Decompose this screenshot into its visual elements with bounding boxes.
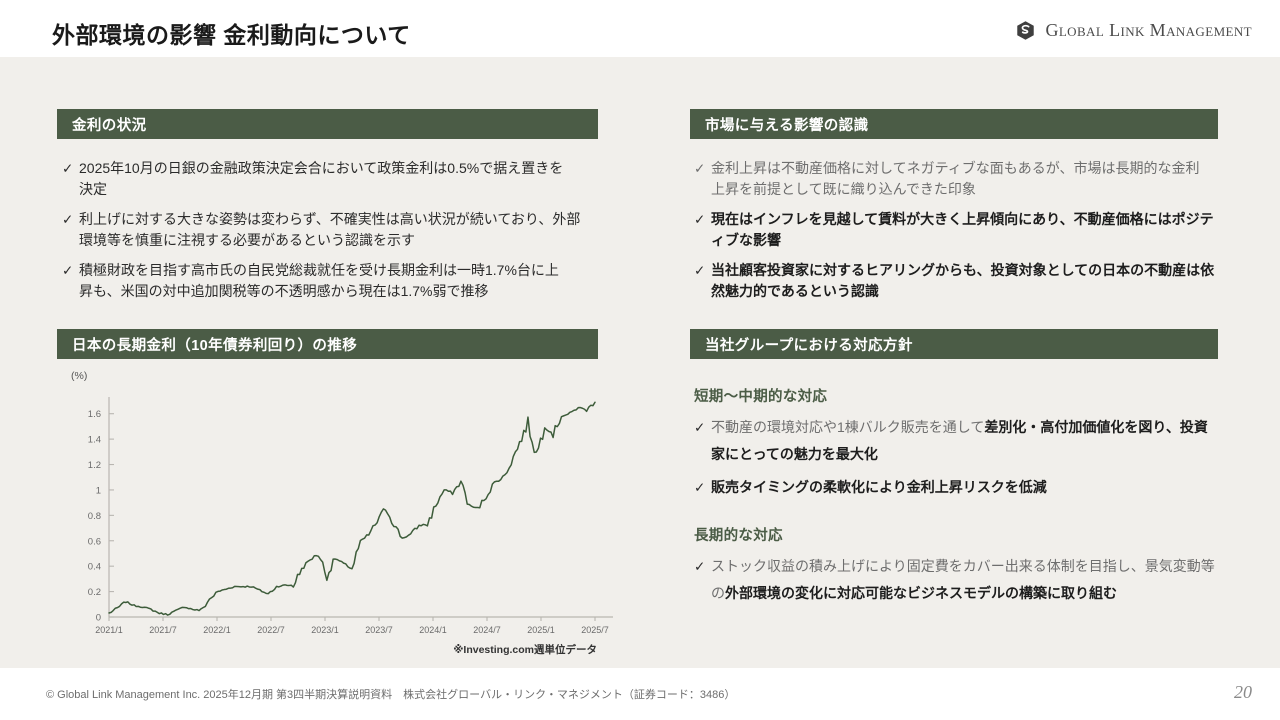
svg-text:2021/1: 2021/1 [95,625,123,635]
svg-text:1: 1 [96,485,101,496]
list-item-text-emphasis: 販売タイミングの柔軟化により金利上昇リスクを低減 [711,479,1047,495]
svg-text:0: 0 [96,613,101,624]
footer-copyright: © Global Link Management Inc. 2025年12月期 … [46,686,735,702]
section-bar-chart: 日本の長期金利（10年債券利回り）の推移 [57,329,598,359]
check-icon: ✓ [694,260,711,302]
list-item-text-emphasis: 外部環境の変化に対応可能なビジネスモデルの構築に取り組む [725,585,1117,601]
group-policy-short-mid: 短期〜中期的な対応 ✓ 不動産の環境対応や1棟バルク販売を通して差別化・高付加価… [694,385,1222,507]
svg-text:2024/1: 2024/1 [419,625,447,635]
slide-header: 外部環境の影響 金利動向について Global Link Management [0,0,1280,57]
svg-text:2024/7: 2024/7 [473,625,501,635]
list-item-text: 当社顧客投資家に対するヒアリングからも、投資対象としての日本の不動産は依然魅力的… [711,260,1224,302]
svg-text:0.6: 0.6 [88,536,101,547]
section-bar-group-policy-label: 当社グループにおける対応方針 [690,334,913,355]
list-item-text: 現在はインフレを見越して賃料が大きく上昇傾向にあり、不動産価格にはポジティブな影… [711,209,1224,251]
subhead-short-mid: 短期〜中期的な対応 [694,385,1222,406]
rates-status-bullets: ✓ 2025年10月の日銀の金融政策決定会合において政策金利は0.5%で据え置き… [62,158,607,311]
list-item-text: 2025年10月の日銀の金融政策決定会合において政策金利は0.5%で据え置きを決… [79,158,577,200]
check-icon: ✓ [694,414,711,468]
long-term-bullets: ✓ ストック収益の積み上げにより固定費をカバー出来る体制を目指し、景気変動等の外… [694,553,1222,607]
svg-text:1.4: 1.4 [88,435,101,446]
svg-text:1.2: 1.2 [88,460,101,471]
check-icon: ✓ [694,158,711,200]
check-icon: ✓ [694,474,711,501]
section-bar-market-impact-label: 市場に与える影響の認識 [690,114,868,135]
svg-text:2023/1: 2023/1 [311,625,339,635]
list-item: ✓ 積極財政を目指す高市氏の自民党総裁就任を受け長期金利は一時1.7%台に上昇も… [62,260,607,302]
list-item: ✓ 金利上昇は不動産価格に対してネガティブな面もあるが、市場は長期的な金利上昇を… [694,158,1224,200]
chart-source-note: ※Investing.com週単位データ [453,642,597,657]
list-item: ✓ ストック収益の積み上げにより固定費をカバー出来る体制を目指し、景気変動等の外… [694,553,1222,607]
svg-text:1.6: 1.6 [88,409,101,420]
market-impact-bullets: ✓ 金利上昇は不動産価格に対してネガティブな面もあるが、市場は長期的な金利上昇を… [694,158,1224,311]
section-bar-rates-status: 金利の状況 [57,109,598,139]
list-item: ✓ 当社顧客投資家に対するヒアリングからも、投資対象としての日本の不動産は依然魅… [694,260,1224,302]
svg-text:2023/7: 2023/7 [365,625,393,635]
list-item-text: 販売タイミングの柔軟化により金利上昇リスクを低減 [711,474,1221,501]
section-bar-market-impact: 市場に与える影響の認識 [690,109,1218,139]
slide-root: 外部環境の影響 金利動向について Global Link Management … [0,0,1280,720]
section-bar-chart-label: 日本の長期金利（10年債券利回り）の推移 [57,334,357,355]
svg-text:2025/7: 2025/7 [581,625,609,635]
group-policy-long-term: 長期的な対応 ✓ ストック収益の積み上げにより固定費をカバー出来る体制を目指し、… [694,524,1222,613]
list-item: ✓ 利上げに対する大きな姿勢は変わらず、不確実性は高い状況が続いており、外部環境… [62,209,607,251]
svg-text:2025/1: 2025/1 [527,625,555,635]
glm-hexagon-logo-icon [1015,20,1036,41]
list-item: ✓ 現在はインフレを見越して賃料が大きく上昇傾向にあり、不動産価格にはポジティブ… [694,209,1224,251]
list-item-text-plain: 不動産の環境対応や1棟バルク販売を通して [711,419,984,435]
rate-trend-chart: (%) 00.20.40.60.811.21.41.62021/12021/72… [57,365,617,660]
list-item-text: 金利上昇は不動産価格に対してネガティブな面もあるが、市場は長期的な金利上昇を前提… [711,158,1211,200]
section-bar-group-policy: 当社グループにおける対応方針 [690,329,1218,359]
section-bar-rates-status-label: 金利の状況 [57,114,147,135]
list-item: ✓ 不動産の環境対応や1棟バルク販売を通して差別化・高付加価値化を図り、投資家に… [694,414,1222,468]
svg-text:0.2: 0.2 [88,587,101,598]
check-icon: ✓ [62,158,79,200]
check-icon: ✓ [62,209,79,251]
svg-text:2022/1: 2022/1 [203,625,231,635]
check-icon: ✓ [694,553,711,607]
list-item-text: ストック収益の積み上げにより固定費をカバー出来る体制を目指し、景気変動等の外部環… [711,553,1222,607]
company-logo: Global Link Management [1015,20,1252,41]
check-icon: ✓ [62,260,79,302]
svg-text:0.8: 0.8 [88,511,101,522]
list-item-text: 利上げに対する大きな姿勢は変わらず、不確実性は高い状況が続いており、外部環境等を… [79,209,594,251]
chart-plot: 00.20.40.60.811.21.41.62021/12021/72022/… [57,389,617,644]
svg-text:0.4: 0.4 [88,562,101,573]
page-number: 20 [1234,682,1252,703]
check-icon: ✓ [694,209,711,251]
svg-text:2021/7: 2021/7 [149,625,177,635]
page-title: 外部環境の影響 金利動向について [52,16,411,50]
list-item: ✓ 販売タイミングの柔軟化により金利上昇リスクを低減 [694,474,1222,501]
logo-wordmark: Global Link Management [1045,20,1252,41]
short-mid-bullets: ✓ 不動産の環境対応や1棟バルク販売を通して差別化・高付加価値化を図り、投資家に… [694,414,1222,501]
list-item-text: 積極財政を目指す高市氏の自民党総裁就任を受け長期金利は一時1.7%台に上昇も、米… [79,260,559,302]
svg-text:2022/7: 2022/7 [257,625,285,635]
list-item: ✓ 2025年10月の日銀の金融政策決定会合において政策金利は0.5%で据え置き… [62,158,607,200]
chart-unit-label: (%) [71,370,87,382]
list-item-text: 不動産の環境対応や1棟バルク販売を通して差別化・高付加価値化を図り、投資家にとっ… [711,414,1221,468]
subhead-long-term: 長期的な対応 [694,524,1222,545]
